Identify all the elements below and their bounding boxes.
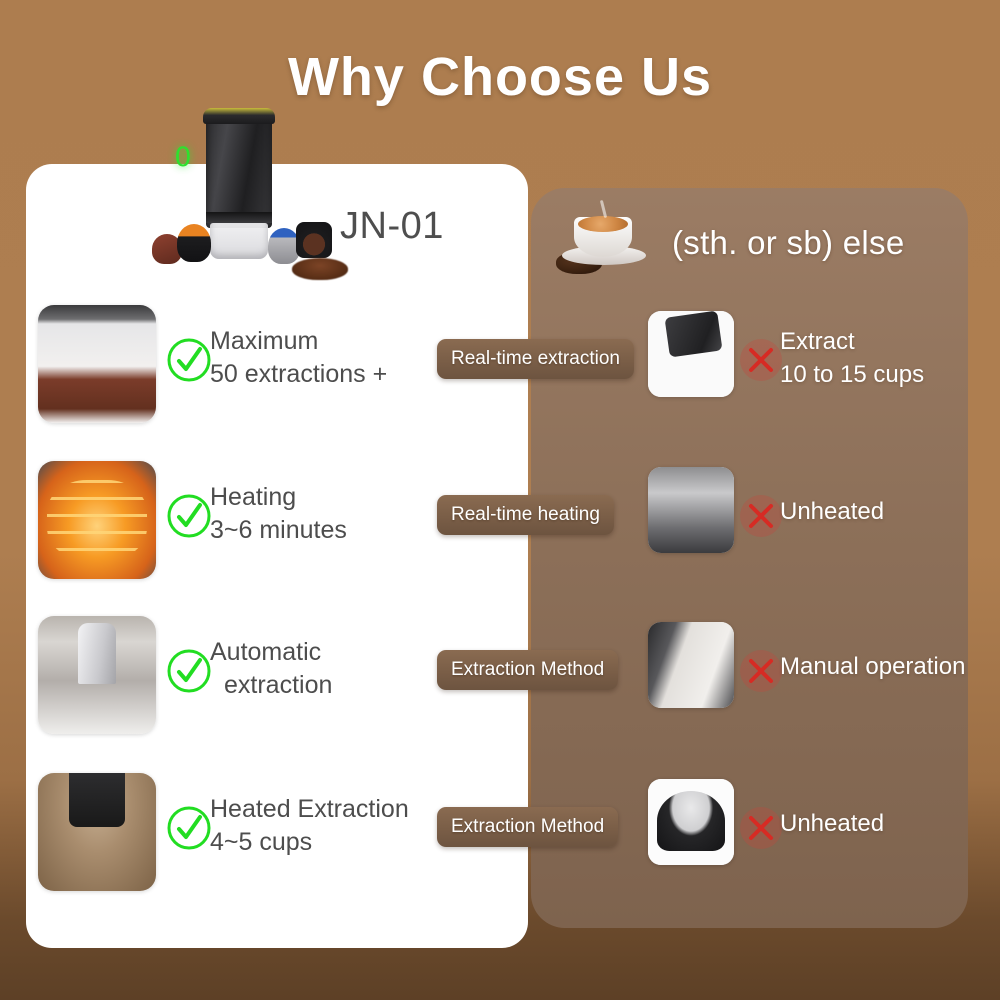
row-2-competitor-photo bbox=[648, 467, 734, 553]
comparison-row: Maximum 50 extractions + Real-time extra… bbox=[0, 305, 1000, 435]
check-icon bbox=[166, 337, 212, 383]
product-hero-image: 0 bbox=[150, 108, 340, 283]
row-1-competitor-detail: 10 to 15 cups bbox=[780, 358, 995, 391]
cross-icon bbox=[738, 805, 784, 851]
latte-art-shape bbox=[578, 216, 628, 232]
row-1-product-text: Maximum 50 extractions + bbox=[210, 325, 440, 391]
comparison-row: Heated Extraction 4~5 cups Extraction Me… bbox=[0, 773, 1000, 903]
row-2-product-title: Heating bbox=[210, 481, 440, 514]
row-3-competitor-title: Manual operation bbox=[780, 650, 1000, 683]
row-1-product-photo bbox=[38, 305, 156, 423]
row-1-competitor-text: Extract 10 to 15 cups bbox=[780, 325, 995, 391]
product-display-value: 0 bbox=[150, 142, 216, 173]
cross-icon bbox=[738, 493, 784, 539]
row-3-product-title: Automatic bbox=[210, 636, 440, 669]
competitor-heading: (sth. or sb) else bbox=[672, 224, 905, 262]
row-4-product-detail: 4~5 cups bbox=[210, 826, 470, 859]
row-1-product-detail: 50 extractions + bbox=[210, 358, 440, 391]
row-2-product-detail: 3~6 minutes bbox=[210, 514, 440, 547]
row-1-feature-chip: Real-time extraction bbox=[437, 339, 634, 379]
check-icon bbox=[166, 805, 212, 851]
row-2-feature-chip: Real-time heating bbox=[437, 495, 614, 535]
row-4-competitor-title: Unheated bbox=[780, 807, 995, 840]
row-4-product-text: Heated Extraction 4~5 cups bbox=[210, 793, 470, 859]
row-2-competitor-title: Unheated bbox=[780, 495, 995, 528]
check-icon bbox=[166, 493, 212, 539]
row-3-feature-chip: Extraction Method bbox=[437, 650, 618, 690]
capsule-orange-icon bbox=[177, 224, 211, 262]
coffee-cup-icon bbox=[556, 198, 664, 274]
coffee-maker-lid bbox=[203, 108, 275, 124]
row-4-feature-chip: Extraction Method bbox=[437, 807, 618, 847]
check-icon bbox=[166, 648, 212, 694]
cross-icon bbox=[738, 337, 784, 383]
coffee-maker-cup bbox=[210, 223, 268, 259]
infographic-root: Why Choose Us 0 JN-01 (sth. or sb) else … bbox=[0, 0, 1000, 1000]
row-3-competitor-text: Manual operation bbox=[780, 650, 1000, 683]
row-3-product-text: Automatic extraction bbox=[210, 636, 440, 702]
row-2-competitor-text: Unheated bbox=[780, 495, 995, 528]
comparison-row: Automatic extraction Extraction Method M… bbox=[0, 616, 1000, 746]
product-name: JN-01 bbox=[340, 205, 444, 248]
row-3-product-detail: extraction bbox=[210, 669, 440, 702]
row-2-product-photo bbox=[38, 461, 156, 579]
row-2-product-text: Heating 3~6 minutes bbox=[210, 481, 440, 547]
row-4-product-title: Heated Extraction bbox=[210, 793, 470, 826]
row-4-competitor-text: Unheated bbox=[780, 807, 995, 840]
comparison-row: Heating 3~6 minutes Real-time heating Un… bbox=[0, 461, 1000, 591]
coffee-grounds-pile bbox=[292, 258, 348, 280]
row-3-competitor-photo bbox=[648, 622, 734, 708]
row-3-product-photo bbox=[38, 616, 156, 734]
capsule-open-icon bbox=[296, 222, 332, 258]
coffee-maker-band bbox=[206, 212, 272, 223]
page-title: Why Choose Us bbox=[0, 46, 1000, 108]
row-4-product-photo bbox=[38, 773, 156, 891]
row-1-product-title: Maximum bbox=[210, 325, 440, 358]
row-1-competitor-photo bbox=[648, 311, 734, 397]
row-4-competitor-photo bbox=[648, 779, 734, 865]
row-1-competitor-title: Extract bbox=[780, 325, 995, 358]
cross-icon bbox=[738, 648, 784, 694]
